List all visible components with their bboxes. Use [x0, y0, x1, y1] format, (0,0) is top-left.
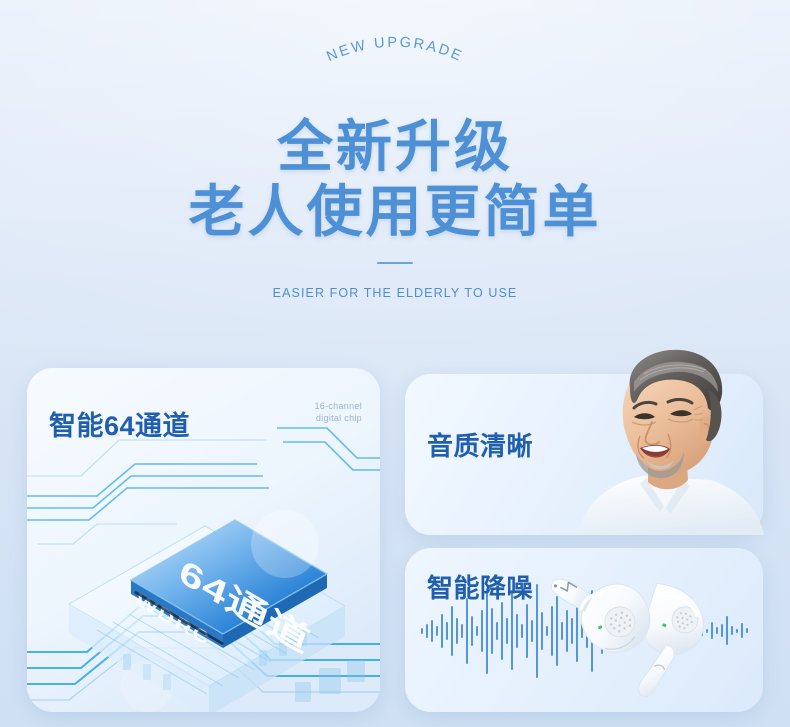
- arc-label-wrap: NEW UPGRADE: [265, 58, 525, 122]
- promo-page: NEW UPGRADE 全新升级 老人使用更简单 EASIER FOR THE …: [0, 0, 790, 727]
- earbud-left: [549, 548, 662, 669]
- card-chip-note-line2: digital chip: [314, 412, 362, 424]
- card-chip[interactable]: 64通道 WDRC 智能64通道 16-channel digital chip: [27, 368, 380, 712]
- card-sound-quality[interactable]: 音质清晰: [405, 374, 763, 535]
- page-title-line2: 老人使用更简单: [0, 181, 790, 243]
- header-section: NEW UPGRADE 全新升级 老人使用更简单 EASIER FOR THE …: [0, 0, 790, 330]
- card-noise-cancel[interactable]: 智能降噪: [405, 548, 763, 712]
- page-title-line1: 全新升级: [0, 116, 790, 178]
- elderly-man-portrait-illustration: [560, 330, 770, 535]
- title-divider: [377, 262, 413, 264]
- page-tagline: EASIER FOR THE ELDERLY TO USE: [0, 286, 790, 300]
- card-noise-cancel-title: 智能降噪: [427, 568, 533, 605]
- card-chip-note-line1: 16-channel: [314, 400, 362, 412]
- card-chip-note: 16-channel digital chip: [314, 400, 362, 424]
- card-sound-quality-title: 音质清晰: [427, 426, 533, 463]
- card-chip-title: 智能64通道: [49, 404, 190, 443]
- new-upgrade-arc-text: NEW UPGRADE: [324, 35, 465, 66]
